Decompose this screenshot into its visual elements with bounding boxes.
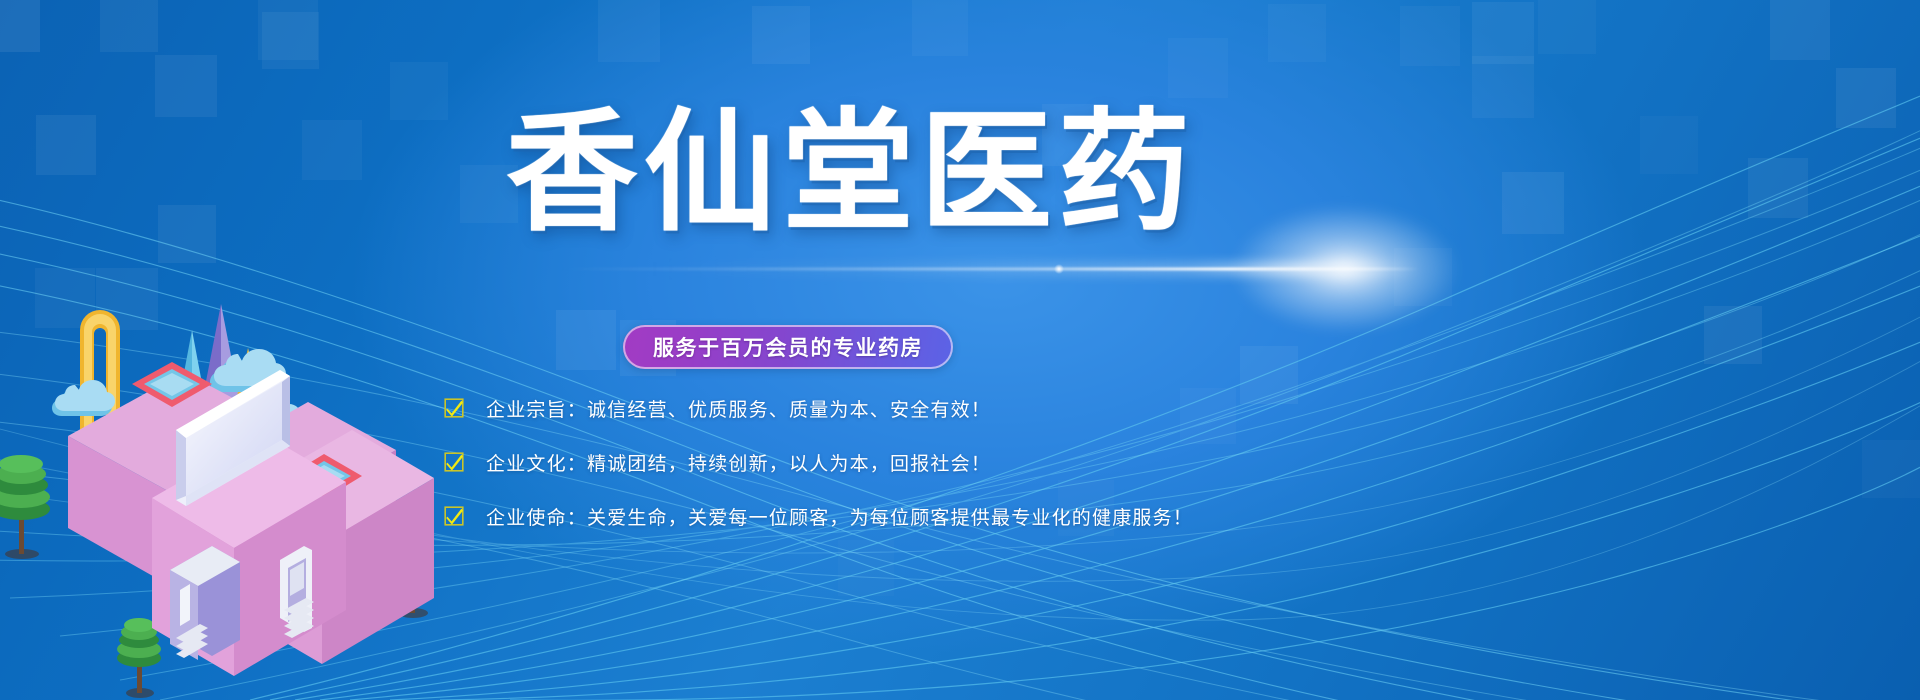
check-box-icon — [444, 452, 464, 472]
brand-title: 香仙堂医药 — [0, 96, 1920, 252]
brand-title-text: 香仙堂医药 — [494, 96, 1196, 252]
tree-bottom — [117, 618, 161, 698]
list-item-label: 企业宗旨：诚信经营、优质服务、质量为本、安全有效！ — [486, 395, 991, 422]
promo-banner: 香仙堂医药 服务于百万会员的专业药房 企业宗旨：诚信经营、优质服务、质量为本、安… — [0, 0, 1920, 700]
subtitle-badge: 服务于百万会员的专业药房 — [623, 325, 953, 369]
check-box-icon — [444, 398, 464, 418]
subtitle-badge-text: 服务于百万会员的专业药房 — [653, 332, 923, 362]
cloud-left — [52, 380, 115, 416]
tree-left — [0, 455, 50, 559]
isometric-pharmacy-city-illustration — [0, 268, 434, 700]
list-item: 企业宗旨：诚信经营、优质服务、质量为本、安全有效！ — [444, 386, 1193, 430]
value-proposition-list: 企业宗旨：诚信经营、优质服务、质量为本、安全有效！ 企业文化：精诚团结，持续创新… — [444, 386, 1193, 548]
list-item-label: 企业使命：关爱生命，关爱每一位顾客，为每位顾客提供最专业化的健康服务！ — [486, 503, 1193, 530]
check-box-icon — [444, 506, 464, 526]
list-item-label: 企业文化：精诚团结，持续创新，以人为本，回报社会！ — [486, 449, 991, 476]
list-item: 企业文化：精诚团结，持续创新，以人为本，回报社会！ — [444, 440, 1193, 484]
list-item: 企业使命：关爱生命，关爱每一位顾客，为每位顾客提供最专业化的健康服务！ — [444, 494, 1193, 538]
